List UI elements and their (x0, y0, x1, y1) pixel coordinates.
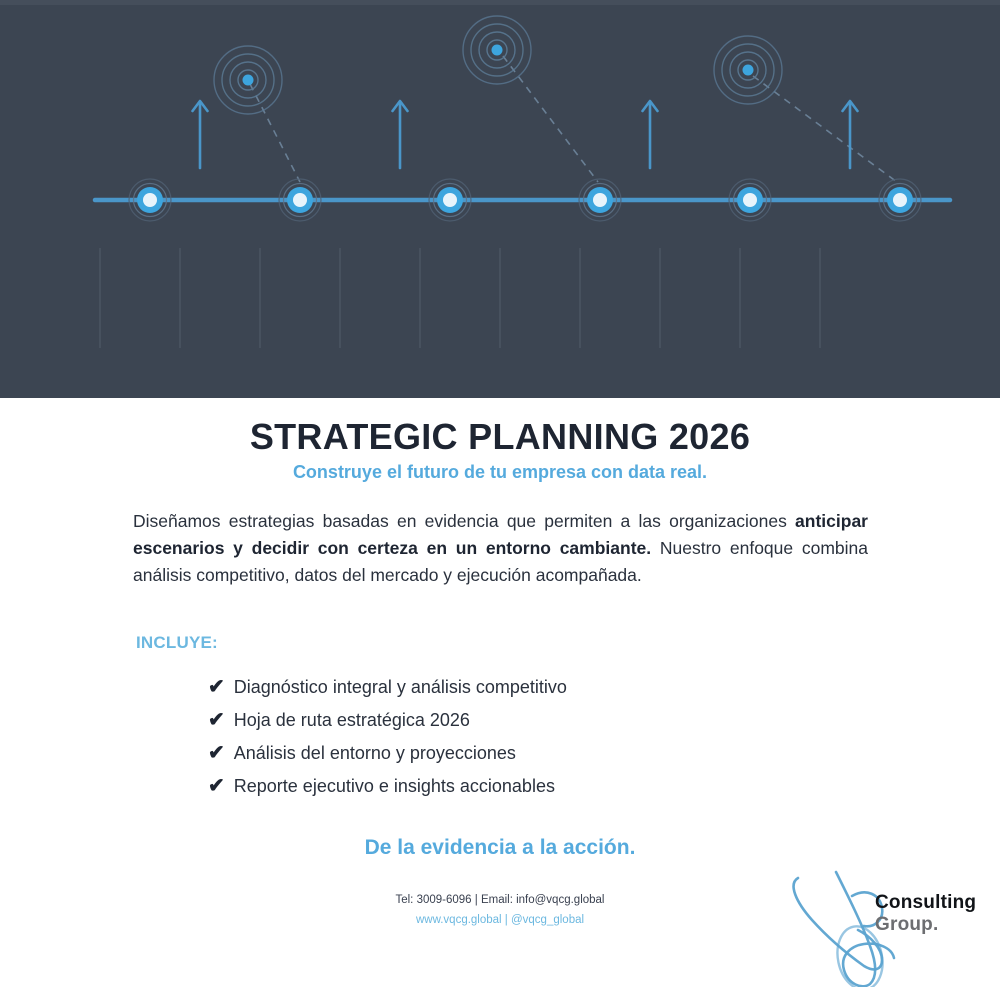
page-title: STRATEGIC PLANNING 2026 (0, 416, 1000, 458)
growth-arrow-icon (393, 101, 408, 168)
page-subtitle: Construye el futuro de tu empresa con da… (0, 462, 1000, 483)
poster: STRATEGIC PLANNING 2026 Construye el fut… (0, 0, 1000, 1000)
strategic-timeline-radar-illustration (0, 0, 1000, 398)
list-item: ✔ Diagnóstico integral y análisis compet… (208, 676, 567, 698)
list-item-label: Reporte ejecutivo e insights accionables (234, 775, 555, 797)
radar-pulse-icon (714, 36, 782, 104)
radar-connector-lines (250, 56, 897, 182)
growth-arrow-icon (193, 101, 208, 168)
hero-banner (0, 0, 1000, 398)
growth-arrow-icon (643, 101, 658, 168)
body-part-1: Diseñamos estrategias basadas en evidenc… (133, 511, 795, 531)
check-icon: ✔ (208, 776, 225, 796)
includes-checklist: ✔ Diagnóstico integral y análisis compet… (208, 676, 567, 808)
logo-group-text: Group. (875, 914, 938, 936)
check-icon: ✔ (208, 743, 225, 763)
body-paragraph: Diseñamos estrategias basadas en evidenc… (133, 508, 868, 589)
check-icon: ✔ (208, 677, 225, 697)
radar-pulse-icon (463, 16, 531, 84)
company-logo: Consulting Group. (778, 862, 983, 987)
list-item: ✔ Reporte ejecutivo e insights accionabl… (208, 775, 567, 797)
check-icon: ✔ (208, 710, 225, 730)
list-item: ✔ Análisis del entorno y proyecciones (208, 742, 567, 764)
includes-heading: INCLUYE: (136, 633, 218, 653)
list-item-label: Análisis del entorno y proyecciones (234, 742, 516, 764)
background-gridlines (100, 248, 820, 348)
logo-consulting-text: Consulting (875, 892, 976, 914)
growth-arrow-icon (843, 101, 858, 168)
list-item-label: Hoja de ruta estratégica 2026 (234, 709, 470, 731)
radar-pulse-icon (214, 46, 282, 114)
call-to-action: De la evidencia a la acción. (0, 836, 1000, 860)
list-item: ✔ Hoja de ruta estratégica 2026 (208, 709, 567, 731)
list-item-label: Diagnóstico integral y análisis competit… (234, 676, 567, 698)
